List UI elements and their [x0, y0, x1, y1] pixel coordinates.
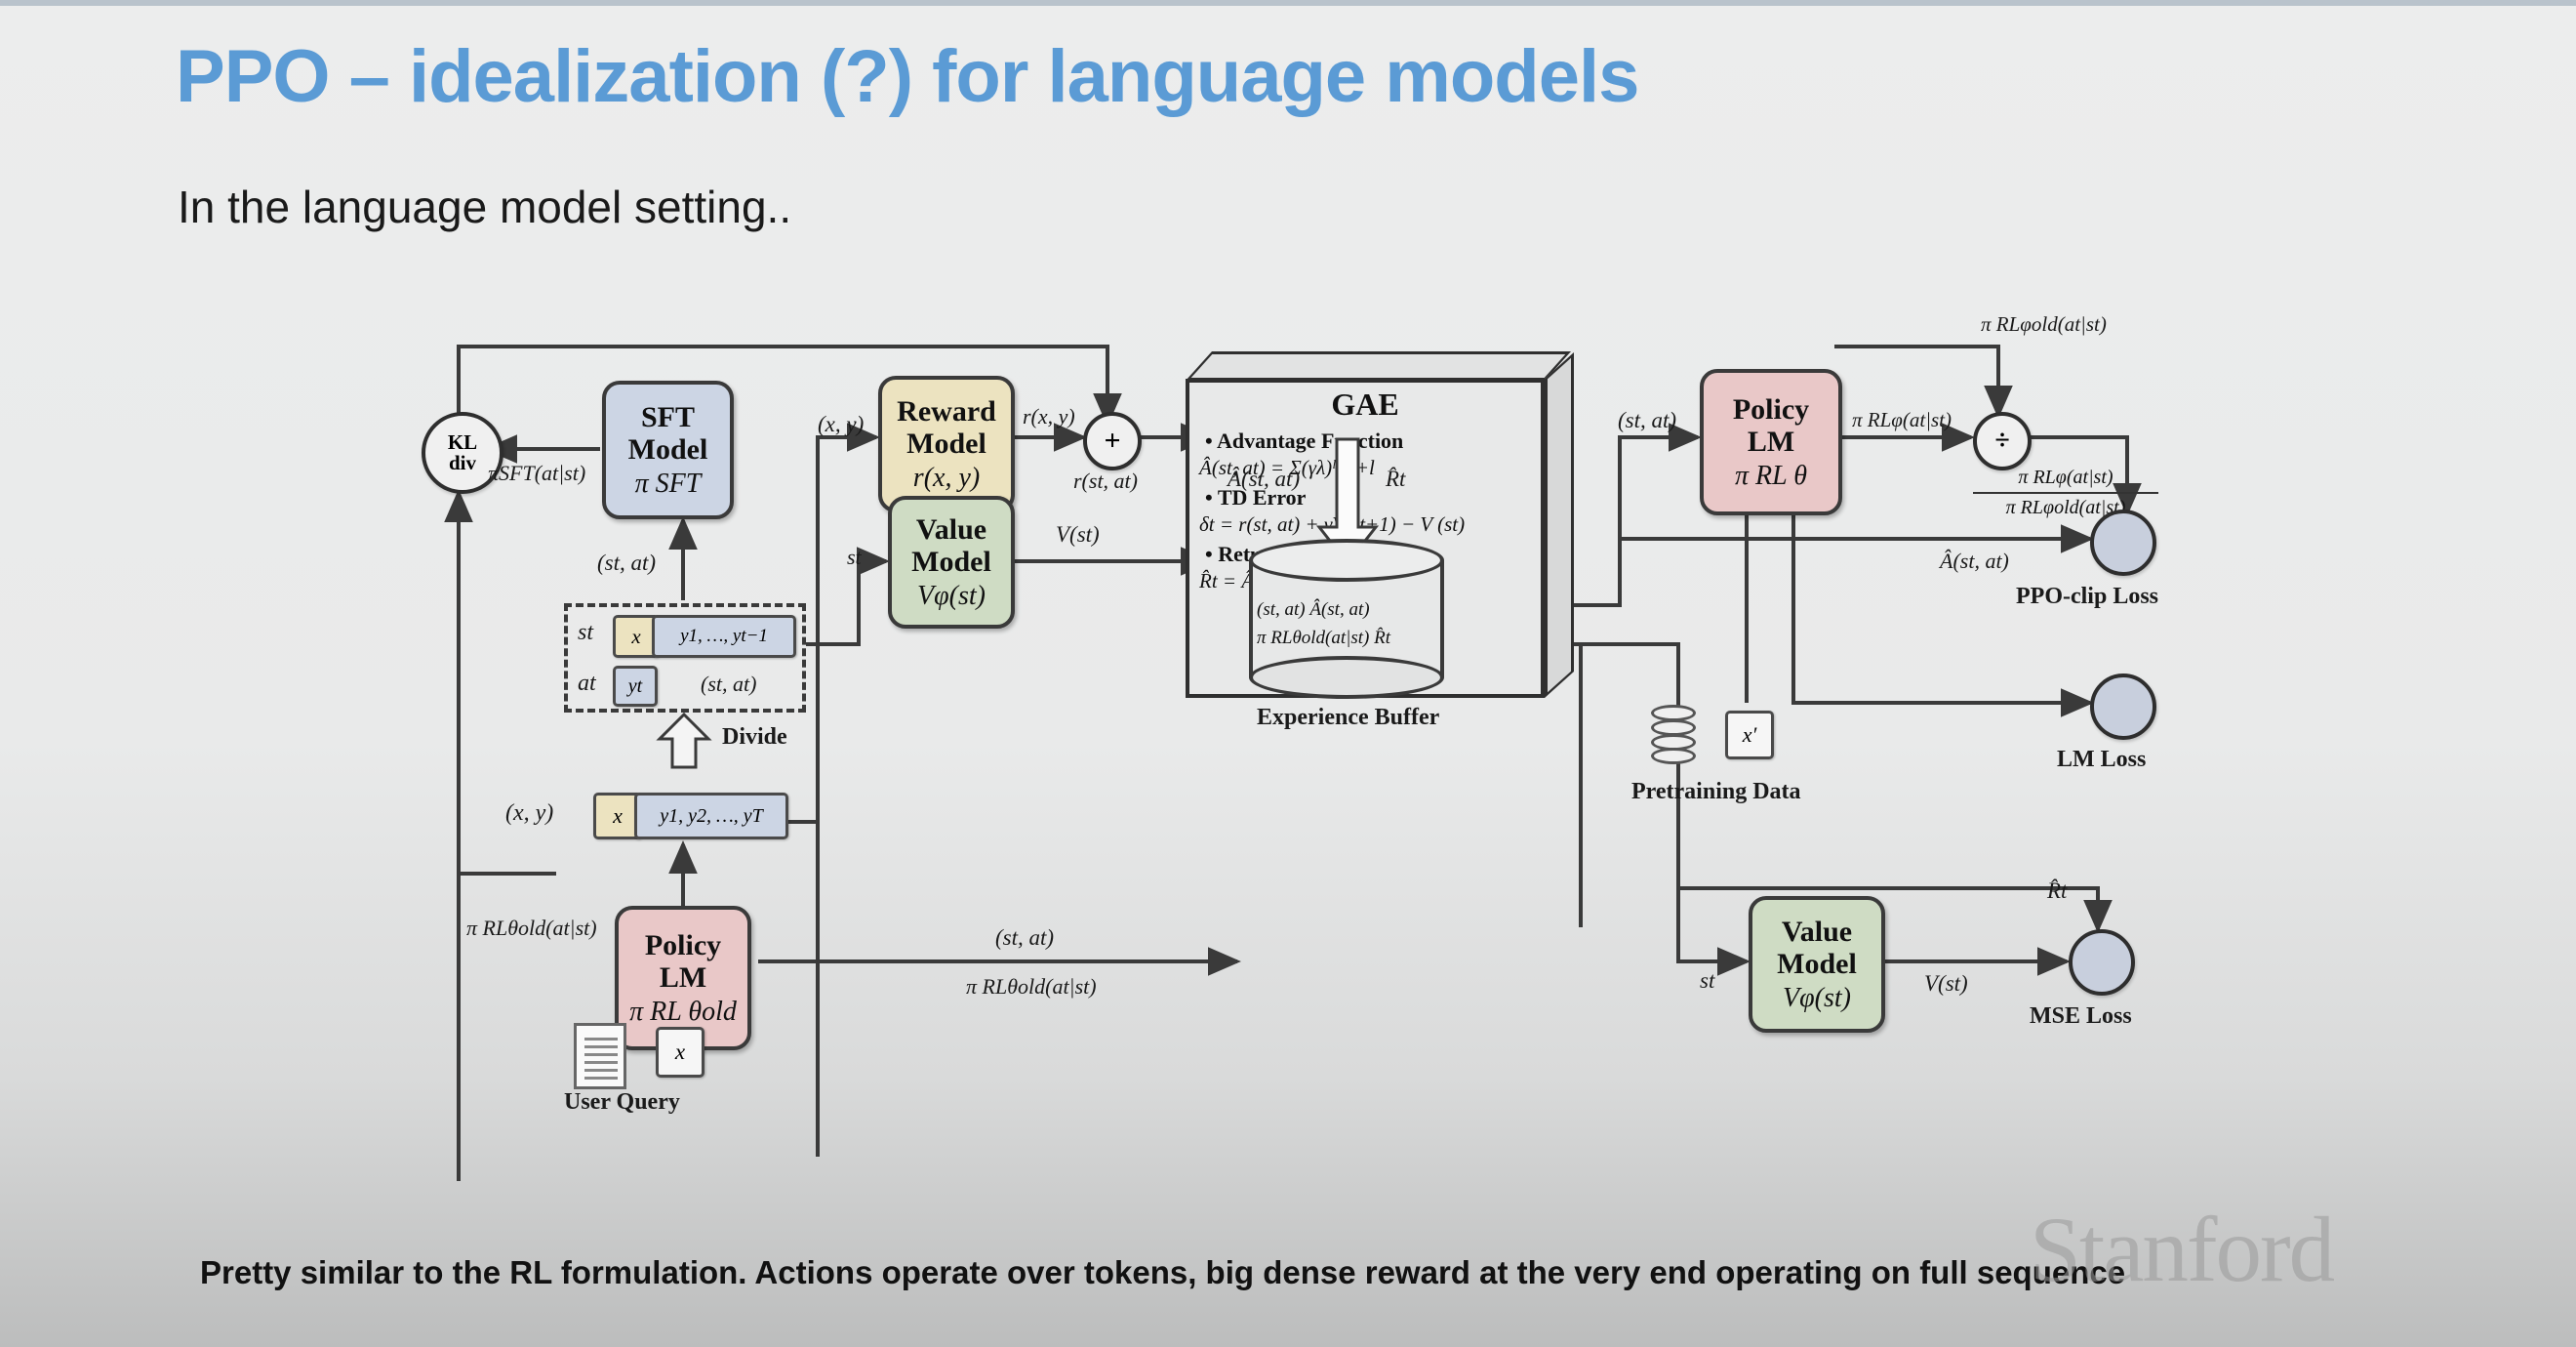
state-action-pair-label: (st, at) [701, 672, 756, 697]
value-model-top-line1: Value [916, 513, 986, 547]
buffer-row-1: (st, at) Â(st, at) [1257, 595, 1438, 624]
buffer-contents: (st, at) Â(st, at) π RLθold(at|st) R̂t [1257, 595, 1438, 653]
division-symbol: ÷ [1994, 428, 2009, 455]
policy-lm-top-line1: Policy [1733, 393, 1809, 427]
lm-loss-label: LM Loss [2057, 747, 2146, 773]
sft-model-line1: SFT [641, 401, 695, 434]
value-model-top-line2: Model [911, 546, 991, 579]
buffer-top-cap [1249, 539, 1444, 582]
policy-lm-bottom-line1: Policy [645, 929, 721, 962]
value-model-top-box[interactable]: Value Model Vφ(st) [888, 496, 1015, 629]
ppo-clip-loss-label: PPO-clip Loss [2016, 584, 2158, 610]
sequence-x-text: x [613, 803, 623, 829]
edge-label-buffer-in-bottom: π RLθold(at|st) [966, 974, 1097, 1000]
edge-label-advantage: Â(st, at) [1940, 549, 2009, 574]
user-query-label: User Query [564, 1089, 680, 1116]
state-y-text: y1, …, yt−1 [680, 626, 768, 647]
ratio-numerator: π RLφ(at|st) [1973, 467, 2158, 492]
pretraining-token-text: x′ [1743, 722, 1757, 748]
mse-loss-label: MSE Loss [2030, 1003, 2132, 1030]
value-model-bottom-line2: Model [1777, 948, 1857, 981]
reward-model-line1: Reward [897, 395, 996, 429]
state-y-tokens: y1, …, yt−1 [652, 615, 796, 658]
pretraining-data-label: Pretraining Data [1631, 779, 1801, 805]
edge-label-value-out: V(st) [1056, 522, 1100, 548]
edge-label-gae-out-adv: Â(st, at) [1228, 467, 1300, 492]
divide-up-arrow [656, 713, 712, 769]
gae-top-face [1186, 351, 1571, 381]
sequence-y-tokens: y1, y2, …, yT [634, 793, 788, 839]
reward-model-line3: r(x, y) [913, 463, 980, 493]
edge-label-reward-sum-out: r(st, at) [1073, 469, 1138, 494]
divide-label: Divide [722, 724, 787, 751]
ppo-clip-loss-node [2090, 510, 2156, 576]
sequence-y-text: y1, y2, …, yT [660, 805, 763, 828]
edge-label-sa-to-sft: (st, at) [597, 551, 656, 576]
reward-model-line2: Model [906, 428, 986, 461]
sum-symbol: + [1104, 427, 1120, 456]
action-label: at [578, 671, 596, 697]
value-model-top-line3: Vφ(st) [917, 581, 986, 611]
pretraining-data-icon [1651, 705, 1696, 765]
gae-side-face [1545, 352, 1574, 698]
edge-label-xy-to-reward: (x, y) [818, 412, 864, 437]
edge-label-st-at-to-policy: (st, at) [1618, 408, 1676, 433]
policy-lm-top-line2: LM [1748, 426, 1794, 459]
edge-label-reward-out: r(x, y) [1023, 404, 1075, 429]
buffer-bottom-cap [1249, 656, 1444, 699]
stanford-watermark: Stanford [2030, 1196, 2333, 1303]
user-query-token: x [656, 1027, 704, 1078]
sum-operator-node: + [1083, 412, 1142, 470]
buffer-row-2: π RLθold(at|st) R̂t [1257, 624, 1438, 652]
value-model-bottom-line3: Vφ(st) [1783, 983, 1851, 1013]
sft-model-box[interactable]: SFT Model π SFT [602, 381, 734, 519]
sft-model-line3: π SFT [635, 469, 702, 499]
edge-label-return-mse: R̂t [2047, 878, 2067, 904]
edge-label-st-bottom: st [1700, 968, 1714, 994]
edge-label-value-bottom-out: V(st) [1924, 971, 1968, 997]
pretraining-token: x′ [1725, 711, 1774, 759]
state-label: st [578, 620, 593, 646]
experience-buffer-label: Experience Buffer [1257, 705, 1439, 731]
policy-lm-top-line3: π RL θ [1735, 461, 1807, 491]
division-operator-node: ÷ [1973, 412, 2032, 470]
experience-buffer: (st, at) Â(st, at) π RLθold(at|st) R̂t [1249, 539, 1444, 700]
sequence-xy-label: (x, y) [505, 800, 553, 827]
policy-lm-bottom-line3: π RL θold [629, 997, 737, 1027]
action-y-text: yt [628, 675, 642, 698]
reward-model-box[interactable]: Reward Model r(x, y) [878, 376, 1015, 512]
action-y-token: yt [613, 666, 658, 707]
mse-loss-node [2069, 929, 2135, 996]
gae-title: GAE [1191, 387, 1539, 423]
policy-lm-bottom-line2: LM [660, 961, 706, 995]
value-model-bottom-line1: Value [1782, 916, 1852, 949]
lm-loss-node [2090, 673, 2156, 740]
sft-model-line2: Model [628, 433, 708, 467]
edge-label-policy-out: π RLφ(at|st) [1852, 408, 1952, 432]
value-model-bottom-box[interactable]: Value Model Vφ(st) [1749, 896, 1885, 1033]
user-query-icon [574, 1023, 626, 1089]
edge-label-sft-prob: πSFT(at|st) [488, 461, 585, 486]
policy-lm-top-box[interactable]: Policy LM π RL θ [1700, 369, 1842, 515]
edge-label-policy-old-top: π RLφold(at|st) [1981, 312, 2107, 337]
ppo-architecture-diagram: KL div πSFT(at|st) SFT Model π SFT (st, … [0, 322, 2576, 1181]
slide-top-border [0, 0, 2576, 6]
state-x-text: x [631, 625, 640, 649]
edge-label-policy-old-left: π RLθold(at|st) [466, 916, 597, 941]
user-query-token-text: x [675, 1040, 685, 1065]
edge-label-buffer-in-top: (st, at) [995, 925, 1054, 951]
edge-label-gae-out-ret: R̂t [1386, 467, 1405, 492]
edge-label-st-to-value: st [847, 545, 862, 570]
page-subtitle: In the language model setting.. [178, 181, 791, 233]
kl-div-line2: div [449, 451, 476, 474]
page-title: PPO – idealization (?) for language mode… [176, 34, 2225, 119]
